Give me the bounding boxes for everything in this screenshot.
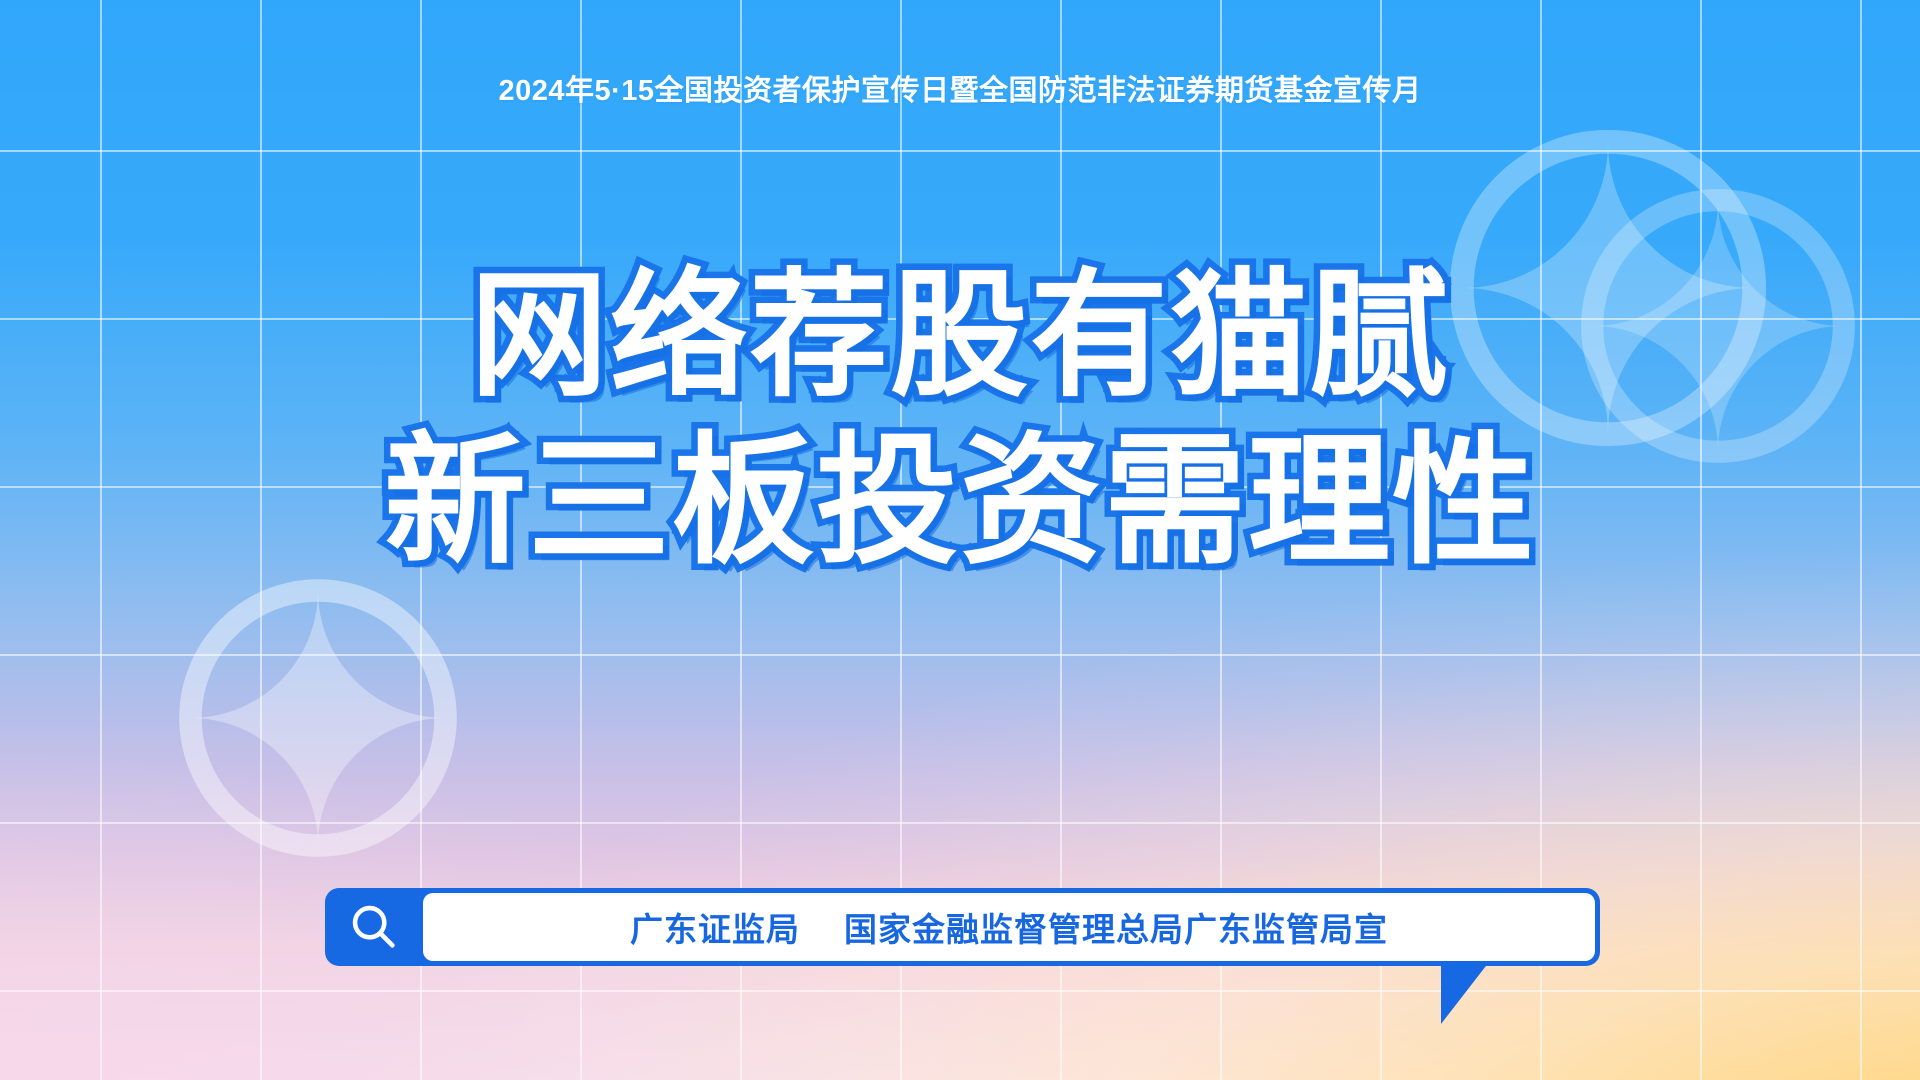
headline-line-2: 新三板投资需理性 bbox=[0, 411, 1920, 593]
page-title: 网络荐股有猫腻 新三板投资需理性 bbox=[0, 248, 1920, 592]
search-icon bbox=[325, 888, 423, 966]
headline-line-1: 网络荐股有猫腻 bbox=[0, 248, 1920, 425]
campaign-subtitle: 2024年5·15全国投资者保护宣传日暨全国防范非法证券期货基金宣传月 bbox=[0, 67, 1920, 109]
footer-org-primary: 广东证监局 bbox=[630, 903, 800, 951]
poster-canvas: 2024年5·15全国投资者保护宣传日暨全国防范非法证券期货基金宣传月 网络荐股… bbox=[0, 0, 1920, 1080]
footer-bar-inner: 广东证监局 国家金融监督管理总局广东监管局宣 bbox=[423, 893, 1595, 961]
footer-credit-bar: 广东证监局 国家金融监督管理总局广东监管局宣 bbox=[325, 888, 1600, 966]
footer-org-secondary: 国家金融监督管理总局广东监管局宣 bbox=[844, 903, 1388, 951]
speech-bubble-tail bbox=[1441, 962, 1489, 1024]
